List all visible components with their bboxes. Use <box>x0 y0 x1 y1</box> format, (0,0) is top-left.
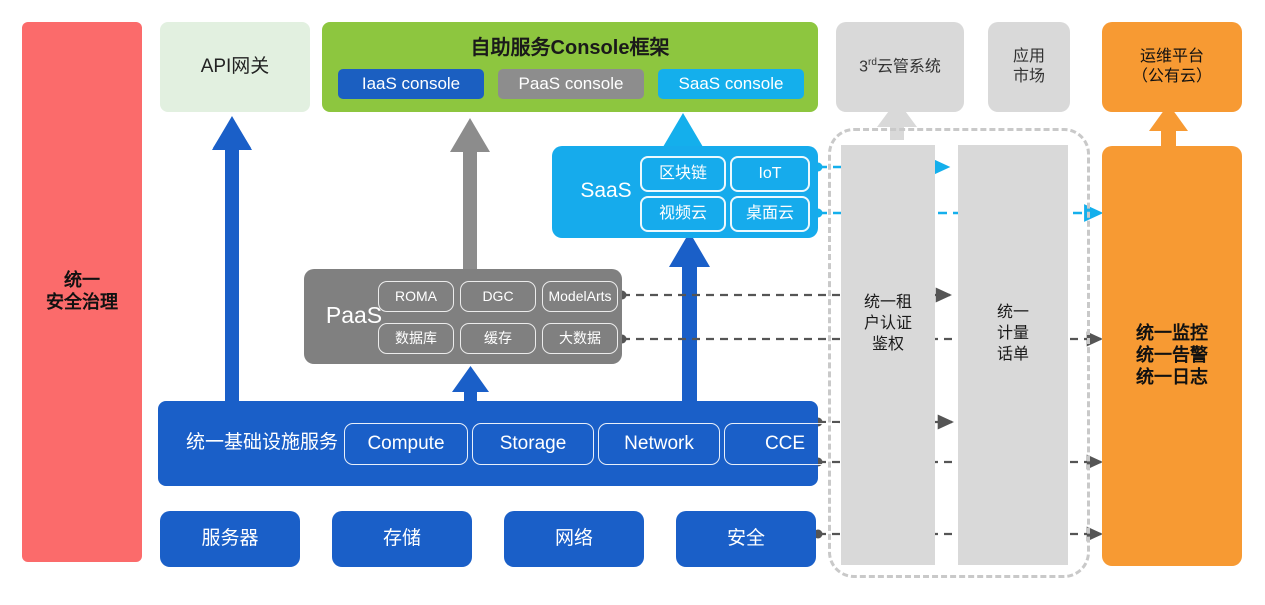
saas-tag-blockchain[interactable]: 区块链 <box>640 156 726 192</box>
infra-tag-network[interactable]: Network <box>598 423 720 465</box>
app-market-box[interactable]: 应用 市场 <box>988 22 1070 112</box>
paas-box: PaaS ROMA DGC ModelArts 数据库 缓存 大数据 <box>304 269 622 364</box>
ops-column-line3: 统一日志 <box>1136 367 1208 389</box>
infrastructure-label: 统一基础设施服务 <box>172 431 352 454</box>
third-party-suffix: 云管系统 <box>877 58 941 75</box>
third-party-sup: rd <box>868 57 877 68</box>
ops-platform-line2: （公有云） <box>1132 67 1212 87</box>
third-party-cloud-mgmt-box[interactable]: 3rd云管系统 <box>836 22 964 112</box>
ops-platform-box[interactable]: 运维平台 （公有云） <box>1102 22 1242 112</box>
console-pill-saas[interactable]: SaaS console <box>658 69 804 99</box>
console-pill-iaas[interactable]: IaaS console <box>338 69 484 99</box>
console-pill-paas[interactable]: PaaS console <box>498 69 644 99</box>
arrow-infra-to-saas <box>669 232 710 412</box>
app-market-line2: 市场 <box>1013 67 1045 87</box>
paas-tag-database[interactable]: 数据库 <box>378 323 454 354</box>
app-market-line1: 应用 <box>1013 47 1045 67</box>
arrow-infra-to-apigw <box>212 116 252 412</box>
ops-platform-line1: 运维平台 <box>1140 47 1204 67</box>
security-governance-line1: 统一 <box>64 270 100 292</box>
auth-column: 统一租 户认证 鉴权 <box>841 145 935 565</box>
hardware-box-storage[interactable]: 存储 <box>332 511 472 567</box>
billing-column-text: 统一 计量 话单 <box>958 302 1068 365</box>
billing-line1: 统一 <box>958 302 1068 323</box>
paas-tag-dgc[interactable]: DGC <box>460 281 536 312</box>
third-party-prefix: 3 <box>859 58 868 75</box>
arrow-paas-to-console <box>450 118 490 275</box>
paas-tag-modelarts[interactable]: ModelArts <box>542 281 618 312</box>
ops-column-line1: 统一监控 <box>1136 323 1208 345</box>
saas-label: SaaS <box>566 178 646 204</box>
saas-tag-video-cloud[interactable]: 视频云 <box>640 196 726 232</box>
api-gateway-box[interactable]: API网关 <box>160 22 310 112</box>
ops-column-line2: 统一告警 <box>1136 345 1208 367</box>
saas-tag-desktop-cloud[interactable]: 桌面云 <box>730 196 810 232</box>
infra-tag-compute[interactable]: Compute <box>344 423 468 465</box>
saas-tag-iot[interactable]: IoT <box>730 156 810 192</box>
infrastructure-bar: 统一基础设施服务 Compute Storage Network CCE <box>158 401 818 486</box>
billing-column: 统一 计量 话单 <box>958 145 1068 565</box>
security-governance-line2: 安全治理 <box>46 292 118 314</box>
auth-line3: 鉴权 <box>841 334 935 355</box>
hardware-box-network[interactable]: 网络 <box>504 511 644 567</box>
billing-line2: 计量 <box>958 323 1068 344</box>
console-framework: 自助服务Console框架 IaaS console PaaS console … <box>322 22 818 112</box>
saas-box: SaaS 区块链 IoT 视频云 桌面云 <box>552 146 818 238</box>
hardware-box-server[interactable]: 服务器 <box>160 511 300 567</box>
auth-line1: 统一租 <box>841 292 935 313</box>
security-governance-column: 统一 安全治理 <box>22 22 142 562</box>
console-framework-title: 自助服务Console框架 <box>322 36 818 60</box>
hardware-box-security[interactable]: 安全 <box>676 511 816 567</box>
auth-line2: 户认证 <box>841 313 935 334</box>
api-gateway-label: API网关 <box>201 55 270 78</box>
paas-tag-bigdata[interactable]: 大数据 <box>542 323 618 354</box>
ops-monitoring-column: 统一监控 统一告警 统一日志 <box>1102 146 1242 566</box>
third-party-label: 3rd云管系统 <box>859 57 941 77</box>
billing-line3: 话单 <box>958 344 1068 365</box>
infra-tag-storage[interactable]: Storage <box>472 423 594 465</box>
paas-tag-cache[interactable]: 缓存 <box>460 323 536 354</box>
architecture-diagram: 统一 安全治理 API网关 自助服务Console框架 IaaS console… <box>0 0 1265 605</box>
auth-column-text: 统一租 户认证 鉴权 <box>841 292 935 355</box>
paas-tag-roma[interactable]: ROMA <box>378 281 454 312</box>
